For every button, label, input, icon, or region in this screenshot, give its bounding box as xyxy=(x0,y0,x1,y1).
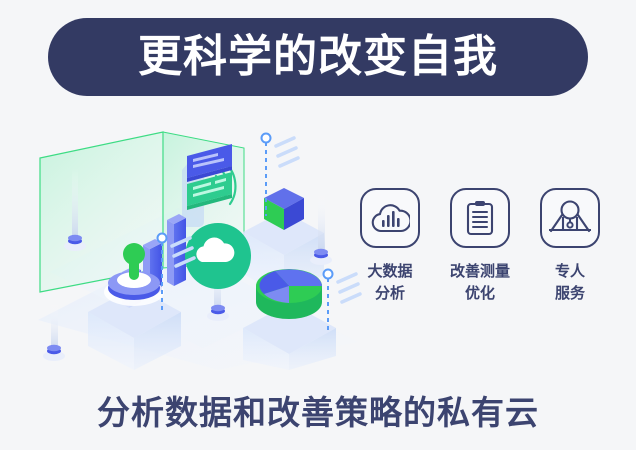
feature-label-support: 专人 服务 xyxy=(530,261,610,305)
cloud-bar-chart-icon xyxy=(360,188,420,248)
feature-label-line1: 改善测量 xyxy=(450,263,510,280)
page-title: 更科学的改变自我 xyxy=(138,35,498,79)
feature-list: 大数据 分析 改善测量 优化 xyxy=(352,188,608,305)
clipboard-icon xyxy=(450,188,510,248)
feature-item-big-data[interactable]: 大数据 分析 xyxy=(352,188,428,305)
banner-container: 更科学的改变自我 xyxy=(0,18,636,96)
feature-label-line2: 服务 xyxy=(530,283,610,305)
feature-label-line1: 专人 xyxy=(555,263,585,280)
feature-label-big-data: 大数据 分析 xyxy=(350,261,430,305)
support-agent-icon xyxy=(540,188,600,248)
feature-item-measurement[interactable]: 改善测量 优化 xyxy=(442,188,518,305)
hero-illustration xyxy=(28,120,368,370)
feature-label-line1: 大数据 xyxy=(367,263,412,280)
tagline: 分析数据和改善策略的私有云 xyxy=(0,386,636,434)
feature-label-line2: 分析 xyxy=(350,283,430,305)
feature-label-measurement: 改善测量 优化 xyxy=(440,261,520,305)
feature-label-line2: 优化 xyxy=(440,283,520,305)
pie-chart-3d xyxy=(256,269,322,319)
title-banner: 更科学的改变自我 xyxy=(48,18,588,96)
feature-item-support[interactable]: 专人 服务 xyxy=(532,188,608,305)
